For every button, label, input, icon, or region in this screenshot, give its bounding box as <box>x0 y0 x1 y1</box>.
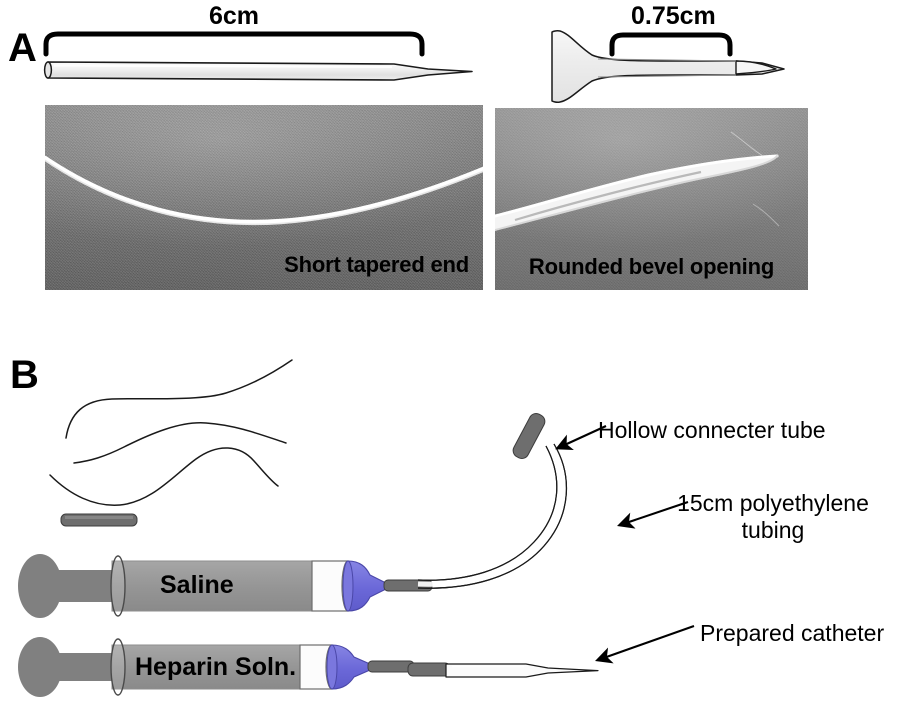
loose-tubing-sketch <box>40 355 310 510</box>
arrow-hollow-connecter-tube <box>550 422 610 458</box>
arrow-prepared-catheter <box>588 622 698 670</box>
photo-rounded-bevel-opening: Rounded bevel opening <box>495 108 808 290</box>
dimension-label-6cm: 6cm <box>209 4 259 29</box>
heparin-syringe-label: Heparin Soln. <box>135 655 296 680</box>
photo-short-tapered-end: Short tapered end <box>45 105 483 290</box>
catheter-schematic-bevel-tip <box>540 28 830 104</box>
annotation-prepared-catheter: Prepared catheter <box>700 620 884 647</box>
dimension-bracket-6cm <box>44 30 424 56</box>
prepared-catheter <box>408 655 618 697</box>
annotation-hollow-connecter-tube: Hollow connecter tube <box>598 417 826 444</box>
spare-connecter-tube <box>58 510 140 530</box>
saline-syringe-label: Saline <box>160 573 234 598</box>
photo-caption-short-tapered-end: Short tapered end <box>45 253 469 278</box>
photo-caption-rounded-bevel-opening: Rounded bevel opening <box>495 255 808 280</box>
panel-letter-a: A <box>8 28 37 68</box>
catheter-schematic-full <box>42 56 482 90</box>
panel-letter-b: B <box>10 355 39 395</box>
dimension-label-075cm: 0.75cm <box>631 4 716 29</box>
figure-root: A 6cm 0.75cm <box>0 0 900 707</box>
arrow-polyethylene-tubing <box>612 498 692 534</box>
